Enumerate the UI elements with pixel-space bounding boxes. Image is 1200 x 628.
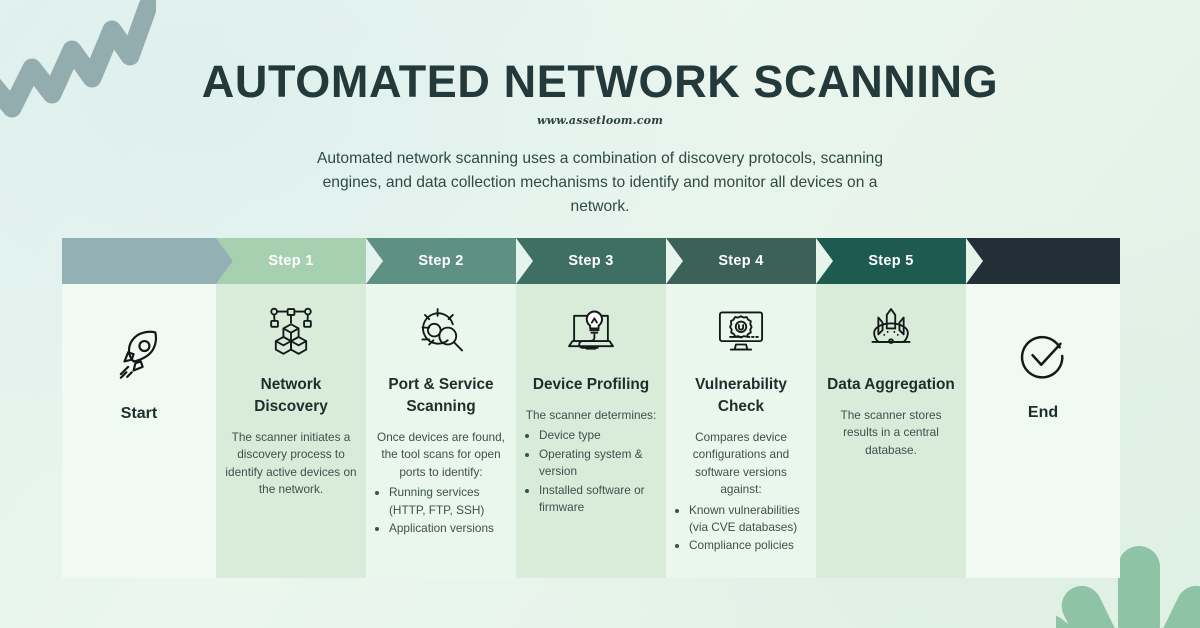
process-board: Start Step 1 <box>62 238 1120 578</box>
chevron-step-2-label: Step 2 <box>418 253 463 269</box>
chevron-end <box>966 238 1120 284</box>
step-body-1: Network Discovery The scanner initiates … <box>216 284 366 578</box>
step-desc-2: Once devices are found, the tool scans f… <box>375 429 507 481</box>
step-body-5: Data Aggregation The scanner stores resu… <box>816 284 966 578</box>
step-body-4: Vulnerability Check Compares device conf… <box>666 284 816 578</box>
step-column-2: Step 2 Port & Service Scanning Once devi… <box>366 238 516 578</box>
step-bullet-item: Compliance policies <box>689 537 807 554</box>
step-bullet-item: Application versions <box>389 520 507 537</box>
header: AUTOMATED NETWORK SCANNING www.assetloom… <box>0 0 1200 219</box>
end-label: End <box>1028 404 1058 422</box>
start-body: Start <box>62 284 216 578</box>
chevron-step-3[interactable]: Step 3 <box>516 238 666 284</box>
step-desc-1: The scanner initiates a discovery proces… <box>225 429 357 499</box>
step-title-2: Port & Service Scanning <box>375 374 507 418</box>
step-column-3: Step 3 Device Profiling Th <box>516 238 666 578</box>
chevron-step-4[interactable]: Step 4 <box>666 238 816 284</box>
network-topology-icon <box>264 302 318 360</box>
step-body-2: Port & Service Scanning Once devices are… <box>366 284 516 578</box>
check-circle-icon <box>1015 328 1071 388</box>
step-bullet-item: Device type <box>539 427 657 444</box>
infographic-canvas: AUTOMATED NETWORK SCANNING www.assetloom… <box>0 0 1200 628</box>
chevron-start <box>62 238 216 284</box>
step-title-1: Network Discovery <box>225 374 357 418</box>
page-title: AUTOMATED NETWORK SCANNING <box>0 58 1200 105</box>
step-bullet-item: Installed software or firmware <box>539 482 657 517</box>
chevron-step-1-label: Step 1 <box>268 253 313 269</box>
chevron-step-5[interactable]: Step 5 <box>816 238 966 284</box>
step-desc-3: The scanner determines: <box>526 407 657 424</box>
chevron-step-1[interactable]: Step 1 <box>216 238 366 284</box>
data-aggregation-icon <box>864 302 918 360</box>
step-desc-4: Compares device configurations and softw… <box>675 429 807 499</box>
step-column-5: Step 5 Data Aggregation The scanner sto <box>816 238 966 578</box>
chevron-step-5-label: Step 5 <box>868 253 913 269</box>
step-title-4: Vulnerability Check <box>675 374 807 418</box>
chevron-step-2[interactable]: Step 2 <box>366 238 516 284</box>
step-bullet-item: Running services (HTTP, FTP, SSH) <box>389 484 507 519</box>
step-body-3: Device Profiling The scanner determines:… <box>516 284 666 578</box>
end-body: End <box>966 284 1120 578</box>
port-scan-icon <box>414 302 468 360</box>
step-column-4: Step 4 Vulnerability Check Compares dev <box>666 238 816 578</box>
start-label: Start <box>121 405 157 423</box>
step-desc-5: The scanner stores results in a central … <box>825 407 957 459</box>
end-column: End <box>966 238 1120 578</box>
step-bullets-3: Device typeOperating system & versionIns… <box>525 426 657 516</box>
rocket-icon <box>110 327 168 389</box>
laptop-idea-icon <box>564 302 618 360</box>
step-column-1: Step 1 <box>216 238 366 578</box>
chevron-step-3-label: Step 3 <box>568 253 613 269</box>
step-bullets-2: Running services (HTTP, FTP, SSH)Applica… <box>375 483 507 537</box>
site-url: www.assetloom.com <box>0 114 1200 127</box>
start-column: Start <box>62 238 216 578</box>
intro-paragraph: Automated network scanning uses a combin… <box>300 147 900 219</box>
chevron-step-4-label: Step 4 <box>718 253 763 269</box>
step-bullets-4: Known vulnerabilities (via CVE databases… <box>675 501 807 555</box>
step-title-5: Data Aggregation <box>827 374 955 396</box>
step-title-3: Device Profiling <box>533 374 649 396</box>
step-bullet-item: Operating system & version <box>539 446 657 481</box>
step-bullet-item: Known vulnerabilities (via CVE databases… <box>689 502 807 537</box>
monitor-gear-icon <box>714 302 768 360</box>
